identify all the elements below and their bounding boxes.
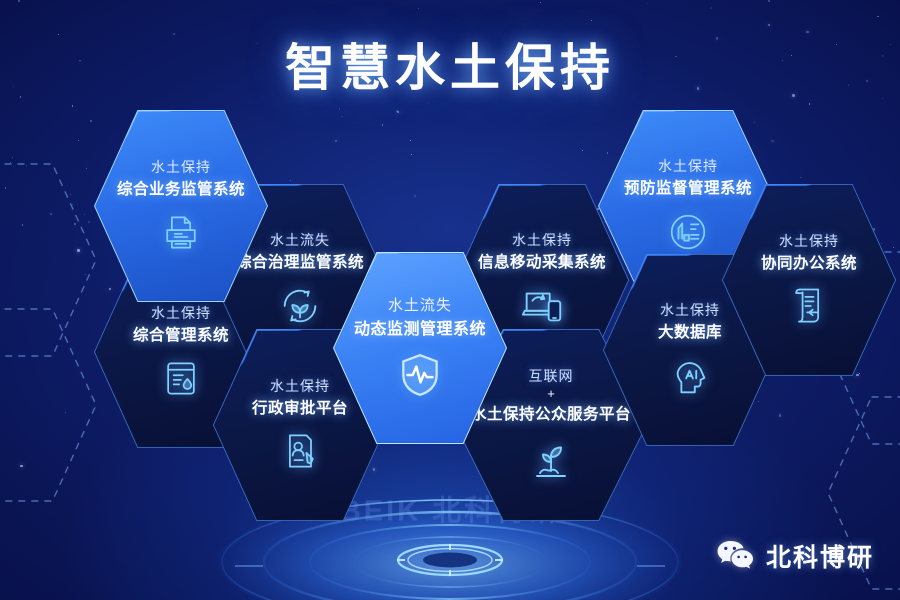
printer-document-icon: [100, 210, 262, 254]
hex-label-line1: 水土保持: [100, 158, 262, 177]
hex-label-line2: 协同办公系统: [728, 254, 890, 275]
hex-label-line2: 动态监测管理系统: [339, 319, 501, 341]
infographic-canvas: 智慧水土保持 水土保持综合业务监管系统 水土保持综合管理系统 水土流失综合治理监…: [0, 0, 900, 600]
approval-person-icon: [219, 429, 381, 473]
page-title: 智慧水土保持: [0, 28, 900, 100]
ai-head-icon: [609, 353, 771, 399]
scroll-document-icon: [728, 284, 890, 328]
wechat-icon: [715, 539, 755, 574]
hex-label-line1: 水土保持: [604, 157, 772, 176]
hex-label-line2: 综合业务监管系统: [100, 180, 262, 201]
shield-pulse-icon: [339, 350, 501, 400]
hex-label-line2: 行政审批平台: [219, 399, 381, 420]
hex-label-line2: 预防监督管理系统: [604, 179, 772, 200]
hex-label-line1: 水土流失: [339, 296, 501, 316]
ghost-hexagon-ghost-left-bottom: [0, 305, 96, 505]
hex-content: 水土流失动态监测管理系统: [333, 296, 507, 400]
ghost-hexagon-ghost-left-top: [0, 160, 96, 360]
sprout-icon: [461, 435, 641, 483]
hex-label-line2: 水土保持公众服务平台: [461, 405, 641, 426]
brand-badge: 北科博研: [715, 538, 874, 574]
hex-label-line1: 水土保持: [728, 232, 890, 251]
hex-label-line2: 信息移动采集系统: [461, 253, 623, 274]
hex-content: 水土保持协同办公系统: [722, 232, 896, 328]
hex-label-line1: 水土保持: [461, 231, 623, 250]
hex-content: 水土保持综合业务监管系统: [94, 158, 268, 254]
brand-name: 北科博研: [766, 538, 874, 574]
